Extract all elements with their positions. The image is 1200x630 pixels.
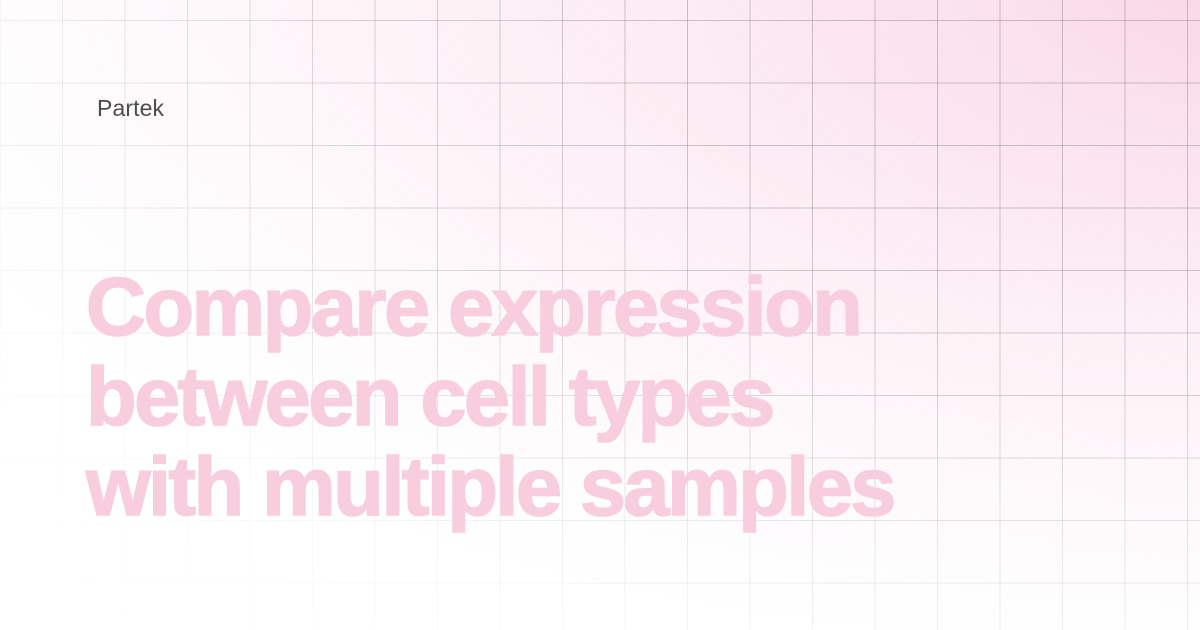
- og-card: Partek Compare expression between cell t…: [0, 0, 1200, 630]
- headline-line-3: with multiple samples: [86, 442, 1146, 532]
- page-title: Compare expression between cell types wi…: [86, 262, 1146, 532]
- brand-name: Partek: [97, 95, 164, 123]
- headline-line-2: between cell types: [86, 352, 1146, 442]
- card-content: Partek Compare expression between cell t…: [0, 0, 1200, 630]
- headline-line-1: Compare expression: [86, 262, 1146, 352]
